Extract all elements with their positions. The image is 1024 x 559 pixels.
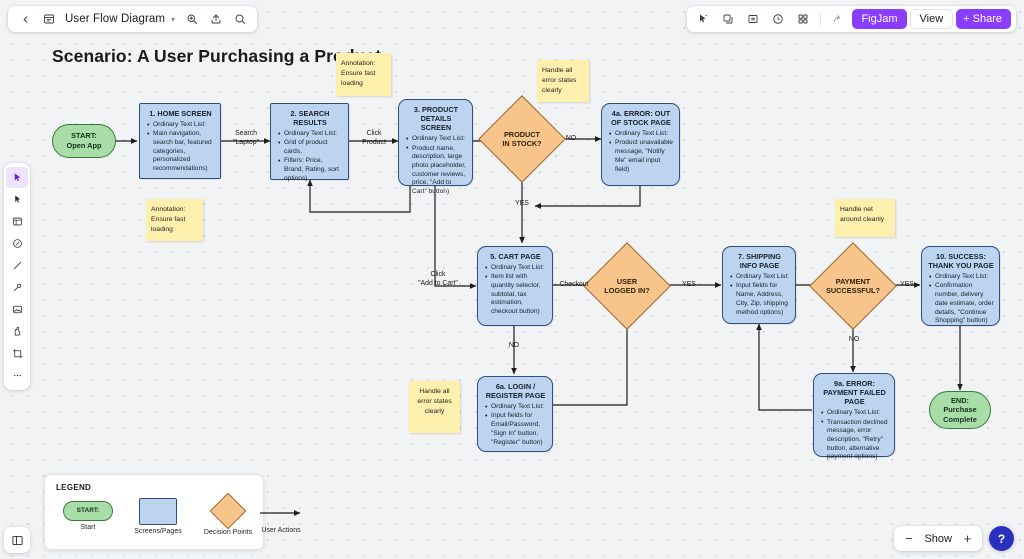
legend: LEGEND START: Start Screens/Pages Decisi… xyxy=(44,474,264,550)
node-items: Ordinary Text List: Grid of product card… xyxy=(277,130,343,183)
node-title: 10. SUCCESS: THANK YOU PAGE xyxy=(928,252,994,270)
decision-line-1: PRODUCT xyxy=(502,130,541,139)
decision-line-2: LOGGED IN? xyxy=(604,286,649,295)
file-frame-icon[interactable] xyxy=(38,8,60,30)
legend-item-start: START: Start xyxy=(57,501,119,531)
search-icon[interactable] xyxy=(229,8,251,30)
node-title: 4a. ERROR: OUT OF STOCK PAGE xyxy=(608,109,674,127)
edge-label-add-to-cart: Click "Add to Cart" xyxy=(409,271,467,289)
sticky-note[interactable]: Annotation: Ensure fast loading xyxy=(146,199,203,241)
node-search-results[interactable]: 2. SEARCH RESULTS Ordinary Text List: Gr… xyxy=(270,103,349,180)
edge-label-checkout: Checkout xyxy=(554,281,594,290)
node-item: Ordinary Text List: xyxy=(277,130,343,139)
node-end[interactable]: END: Purchase Complete xyxy=(929,391,991,429)
pen-marker-icon[interactable] xyxy=(6,277,28,298)
node-out-of-stock[interactable]: 4a. ERROR: OUT OF STOCK PAGE Ordinary Te… xyxy=(601,103,680,186)
copy-duplicate-icon[interactable] xyxy=(717,8,739,30)
page-title: Scenario: A User Purchasing a Product xyxy=(52,46,381,67)
decision-line-1: USER xyxy=(604,277,649,286)
node-item: Main navigation, search bar, featured ca… xyxy=(146,130,215,174)
node-item: Ordinary Text List: xyxy=(608,130,674,139)
legend-start-chip: START: xyxy=(63,501,113,521)
node-item: Filters: Price, Brand, Rating, sort opti… xyxy=(277,157,343,183)
decision-product-in-stock[interactable]: PRODUCT IN STOCK? xyxy=(491,108,553,170)
node-item: Ordinary Text List: xyxy=(484,403,547,412)
node-items: Ordinary Text List: Main navigation, sea… xyxy=(146,121,215,174)
legend-arrow-icon xyxy=(258,498,304,524)
node-items: Ordinary Text List: Product unavailable … xyxy=(608,130,674,174)
widgets-grid-icon[interactable] xyxy=(792,8,814,30)
share-button[interactable]: + Share xyxy=(956,9,1011,29)
image-icon[interactable] xyxy=(6,299,28,320)
end-line-2: Purchase xyxy=(943,405,976,415)
cursor-arrow-icon[interactable] xyxy=(6,167,28,188)
node-item: Input fields for Email/Password, "Sign I… xyxy=(484,412,547,447)
legend-caption: User Actions xyxy=(250,527,312,534)
chevron-down-icon[interactable]: ▾ xyxy=(171,15,175,24)
node-item: Input fields for Name, Address, City, Zi… xyxy=(729,282,790,317)
zoom-in-button[interactable]: + xyxy=(958,529,977,548)
decision-user-logged-in[interactable]: USER LOGGED IN? xyxy=(596,255,658,317)
node-title: 2. SEARCH RESULTS xyxy=(277,109,343,127)
edge-label-payment-no: NO xyxy=(843,336,865,345)
stamp-clock-icon[interactable] xyxy=(6,233,28,254)
view-button[interactable]: View xyxy=(910,9,954,29)
decision-line-2: IN STOCK? xyxy=(502,139,541,148)
node-title: 6a. LOGIN / REGISTER PAGE xyxy=(484,382,547,400)
decision-payment-successful[interactable]: PAYMENT SUCCESSFUL? xyxy=(822,255,884,317)
node-item: Item list with quantity selector, subtot… xyxy=(484,273,547,317)
zoom-level-label[interactable]: Show xyxy=(920,533,956,545)
edge-label-stock-no: NO xyxy=(561,135,581,144)
legend-decision-chip xyxy=(210,493,247,530)
more-dots-icon[interactable] xyxy=(6,365,28,386)
redo-icon[interactable] xyxy=(827,8,849,30)
sticky-note[interactable]: Annotation: Ensure fast loading xyxy=(336,53,391,96)
help-button[interactable]: ? xyxy=(989,526,1014,551)
node-title: 7. SHIPPING INFO PAGE xyxy=(729,252,790,270)
toolbar-divider xyxy=(820,12,821,26)
decision-label: USER LOGGED IN? xyxy=(596,255,658,317)
node-title: 1. HOME SCREEN xyxy=(146,109,215,118)
legend-item-actions: User Actions xyxy=(250,498,312,534)
shape-hand-icon[interactable] xyxy=(6,321,28,342)
line-icon[interactable] xyxy=(6,255,28,276)
node-title: 9a. ERROR: PAYMENT FAILED PAGE xyxy=(820,379,889,406)
decision-line-1: PAYMENT xyxy=(826,277,880,286)
zoom-out-button[interactable]: − xyxy=(899,529,918,548)
legend-caption: Screens/Pages xyxy=(125,528,191,535)
frame-icon[interactable] xyxy=(742,8,764,30)
node-item: Ordinary Text List: xyxy=(820,409,889,418)
edge-label-loggedin-yes: YES xyxy=(678,281,700,290)
edge-label-click-product: Click Product xyxy=(352,130,396,148)
left-toolbar xyxy=(4,163,30,390)
end-line-3: Complete xyxy=(943,415,977,425)
node-start[interactable]: START: Open App xyxy=(52,124,116,158)
node-items: Ordinary Text List: Item list with quant… xyxy=(484,264,547,317)
node-item: Product name, description, large photo p… xyxy=(405,145,467,197)
node-login-register[interactable]: 6a. LOGIN / REGISTER PAGE Ordinary Text … xyxy=(477,376,553,452)
node-home-screen[interactable]: 1. HOME SCREEN Ordinary Text List: Main … xyxy=(139,103,221,179)
topbar-left: User Flow Diagram ▾ xyxy=(8,6,257,32)
back-chevron-icon[interactable] xyxy=(14,8,36,30)
zoom-tool-icon[interactable] xyxy=(181,8,203,30)
node-items: Ordinary Text List: Confirmation number,… xyxy=(928,273,994,326)
node-product-details[interactable]: 3. PRODUCT DETAILS SCREEN Ordinary Text … xyxy=(398,99,473,186)
node-item: Grid of product cards, xyxy=(277,139,343,156)
sticky-table-icon[interactable] xyxy=(6,211,28,232)
decision-label: PAYMENT SUCCESSFUL? xyxy=(822,255,884,317)
node-item: Ordinary Text List: xyxy=(405,135,467,144)
decision-line-2: SUCCESSFUL? xyxy=(826,286,880,295)
file-title[interactable]: User Flow Diagram xyxy=(62,13,169,25)
node-items: Ordinary Text List: Input fields for Nam… xyxy=(729,273,790,317)
node-success-thank-you[interactable]: 10. SUCCESS: THANK YOU PAGE Ordinary Tex… xyxy=(921,246,1000,326)
edge-label-stock-yes: YES xyxy=(511,200,533,209)
node-item: Ordinary Text List: xyxy=(484,264,547,273)
node-items: Ordinary Text List: Product name, descri… xyxy=(405,135,467,196)
zoom-controls: − Show + xyxy=(894,526,982,551)
legend-item-screens: Screens/Pages xyxy=(125,498,191,535)
share-upload-icon[interactable] xyxy=(205,8,227,30)
hand-select-icon[interactable] xyxy=(6,189,28,210)
start-line-1: START: xyxy=(71,131,97,141)
node-title: 3. PRODUCT DETAILS SCREEN xyxy=(405,105,467,132)
topbar-right: FigJam View + Share xyxy=(687,6,1016,32)
legend-screen-chip xyxy=(139,498,177,525)
edge-label-payment-yes: YES xyxy=(896,281,918,290)
sticky-note[interactable]: Handle all error states clearly xyxy=(537,60,589,102)
node-item: Transaction declined message, error desc… xyxy=(820,419,889,463)
cursor-multiplayer-icon[interactable] xyxy=(692,8,714,30)
node-title: 5. CART PAGE xyxy=(484,252,547,261)
start-line-2: Open App xyxy=(66,141,101,151)
node-item: Ordinary Text List: xyxy=(928,273,994,282)
node-payment-failed[interactable]: 9a. ERROR: PAYMENT FAILED PAGE Ordinary … xyxy=(813,373,895,457)
node-items: Ordinary Text List: Input fields for Ema… xyxy=(484,403,547,447)
legend-title: LEGEND xyxy=(56,483,91,492)
node-item: Confirmation number, delivery date estim… xyxy=(928,282,994,326)
end-line-1: END: xyxy=(951,396,969,406)
left-panel-toggle-icon[interactable] xyxy=(4,527,30,553)
node-cart-page[interactable]: 5. CART PAGE Ordinary Text List: Item li… xyxy=(477,246,553,326)
decision-label: PRODUCT IN STOCK? xyxy=(491,108,553,170)
edge-label-login-no: NO xyxy=(503,342,525,351)
node-item: Product unavailable message, "Notify Me"… xyxy=(608,139,674,174)
node-item: Ordinary Text List: xyxy=(146,121,215,130)
frame-crop-icon[interactable] xyxy=(6,343,28,364)
node-items: Ordinary Text List: Transaction declined… xyxy=(820,409,889,462)
node-shipping-info[interactable]: 7. SHIPPING INFO PAGE Ordinary Text List… xyxy=(722,246,796,324)
sticky-note[interactable]: Handle net around cleanly xyxy=(835,199,895,237)
edge-label-search-laptop: Search "Laptop" xyxy=(224,130,268,148)
sticky-note[interactable]: Handle all error states clearly xyxy=(409,381,460,433)
legend-caption: Start xyxy=(57,524,119,531)
node-item: Ordinary Text List: xyxy=(729,273,790,282)
figjam-button[interactable]: FigJam xyxy=(852,9,906,29)
timer-icon[interactable] xyxy=(767,8,789,30)
